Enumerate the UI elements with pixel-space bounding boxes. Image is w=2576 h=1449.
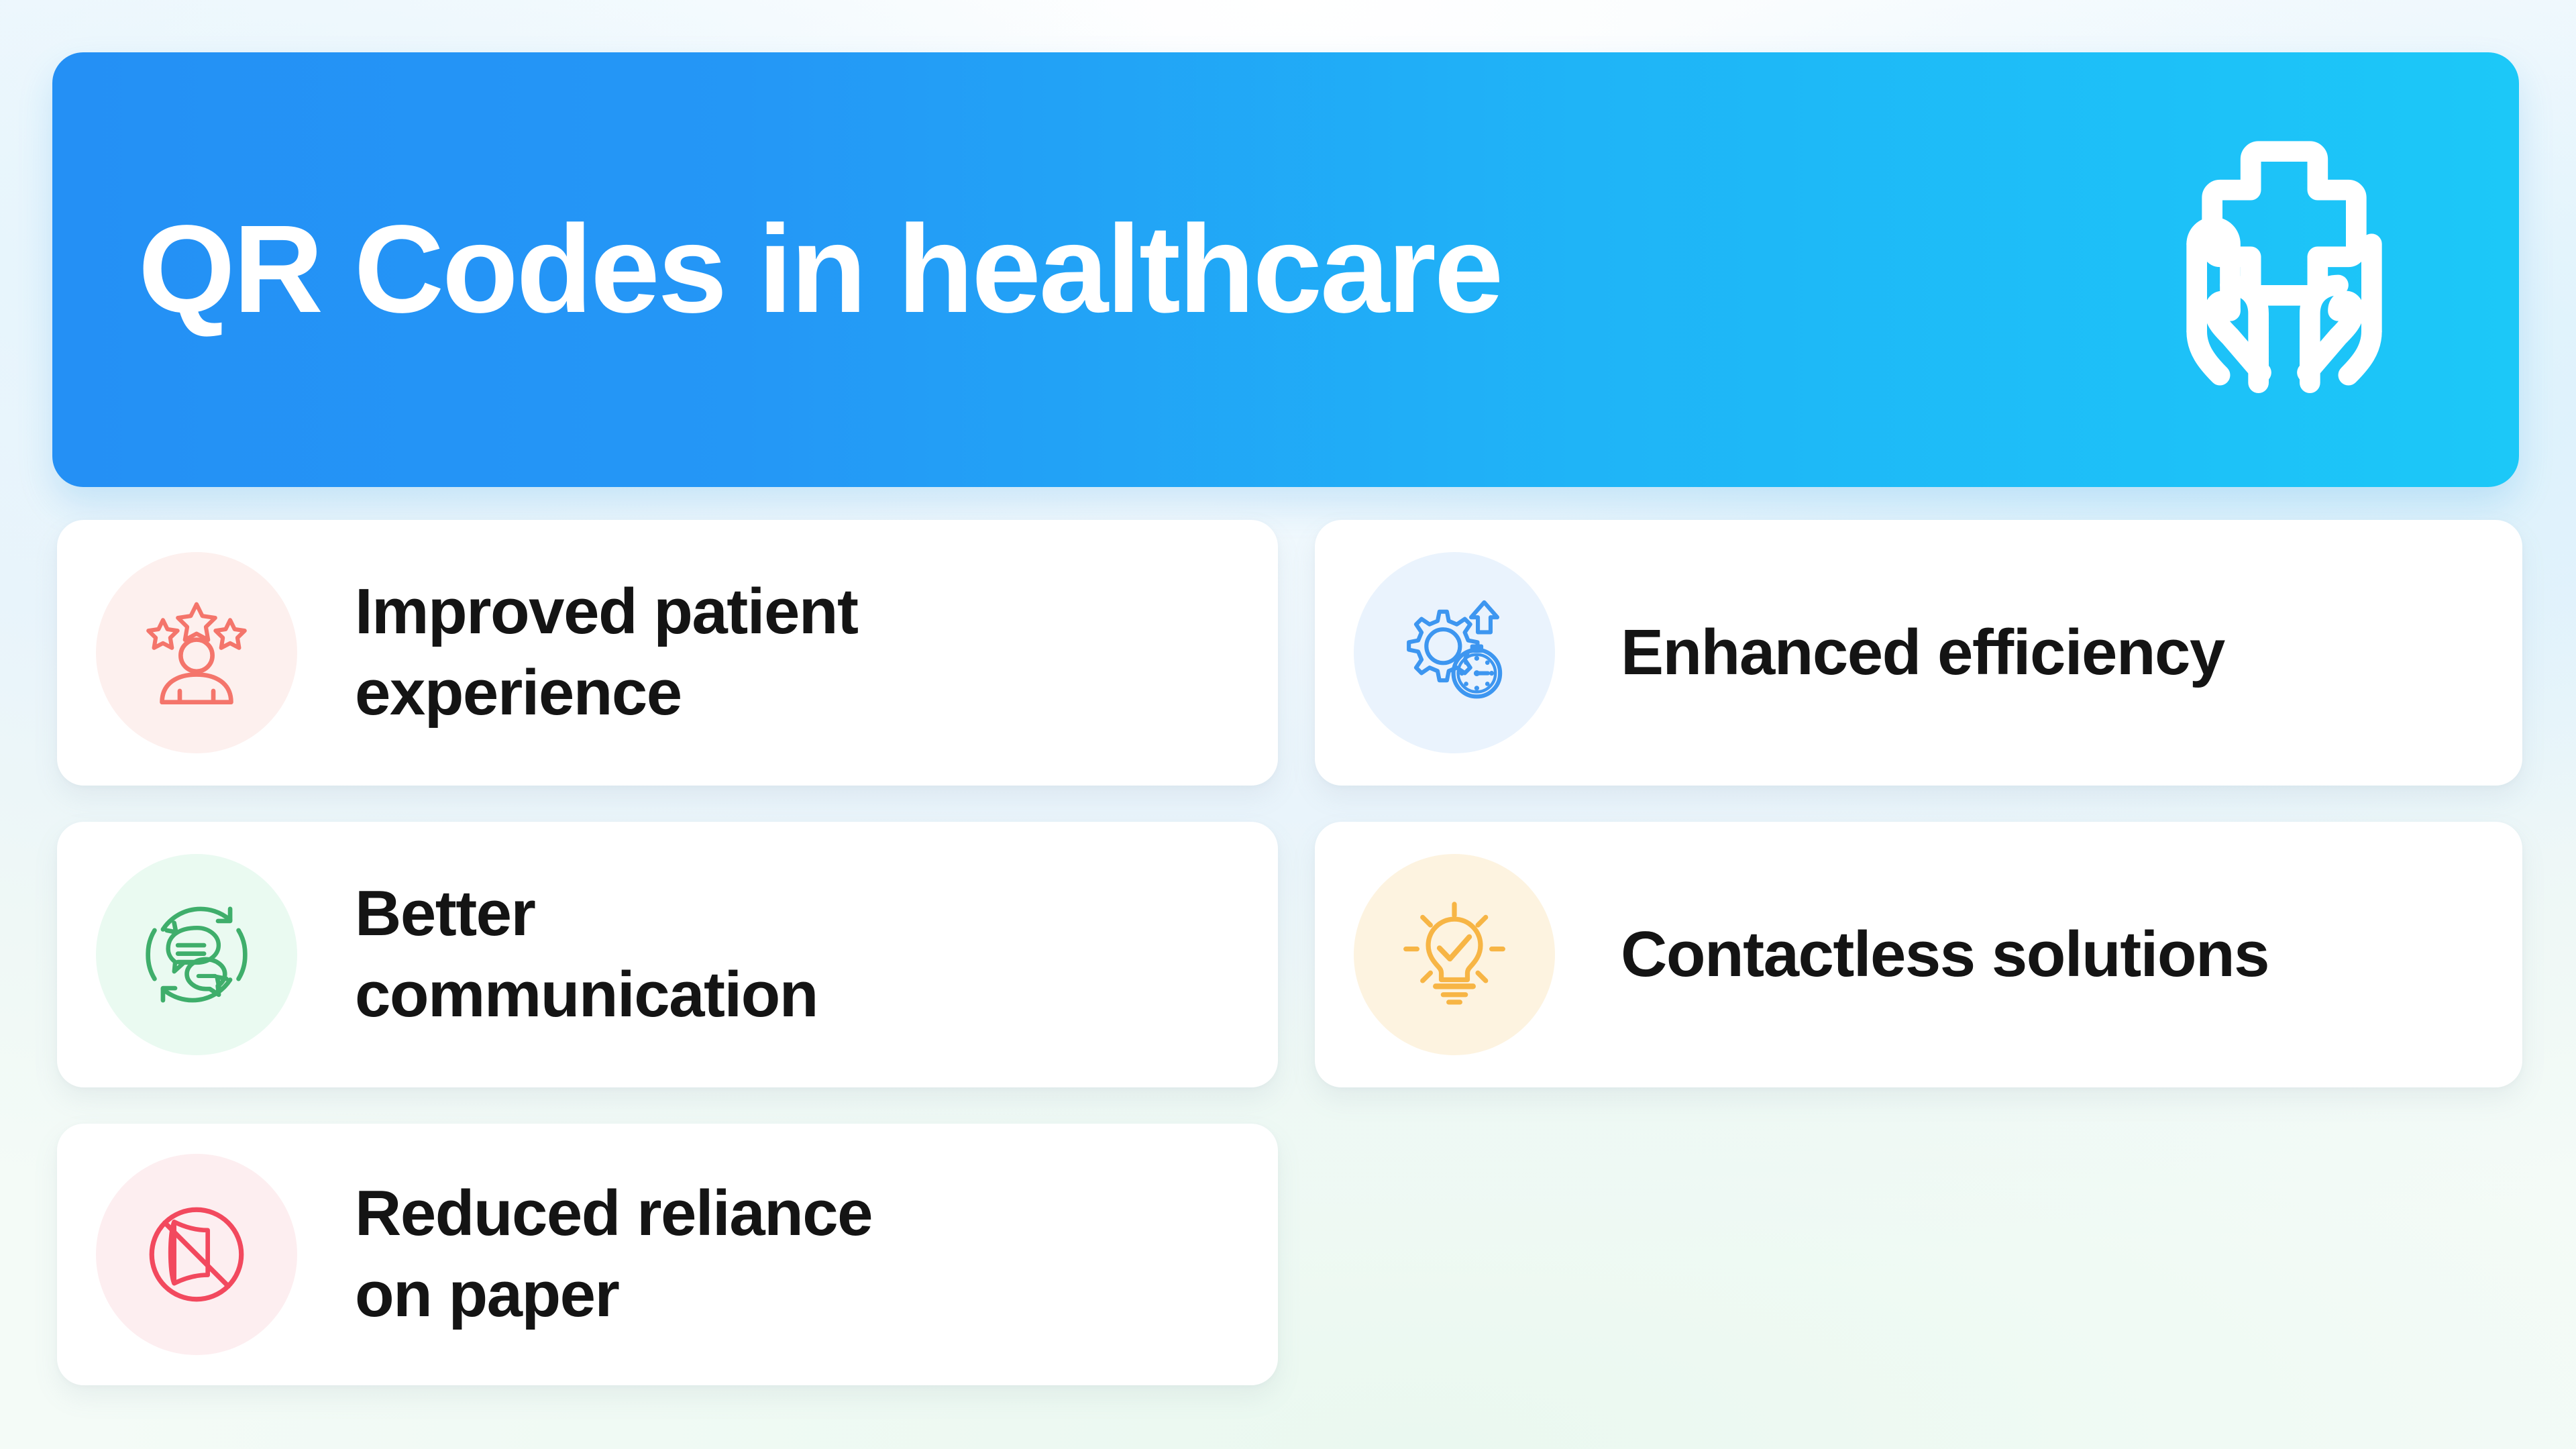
speech-bubbles-refresh-icon xyxy=(137,895,256,1014)
page-title: QR Codes in healthcare xyxy=(138,207,1501,332)
card-label: Improved patient experience xyxy=(355,572,857,734)
gear-stopwatch-arrow-up-icon xyxy=(1395,593,1514,712)
icon-badge xyxy=(96,854,297,1055)
hands-holding-medical-cross-icon xyxy=(2130,136,2438,404)
benefit-card-reduced-reliance-on-paper[interactable]: Reduced reliance on paper xyxy=(57,1124,1278,1385)
benefit-card-better-communication[interactable]: Better communication xyxy=(57,822,1278,1087)
benefit-card-contactless-solutions[interactable]: Contactless solutions xyxy=(1315,822,2522,1087)
icon-badge xyxy=(96,1154,297,1355)
icon-badge xyxy=(1354,552,1555,753)
lightbulb-check-icon xyxy=(1395,895,1514,1014)
benefit-card-enhanced-efficiency[interactable]: Enhanced efficiency xyxy=(1315,520,2522,786)
person-with-stars-icon xyxy=(137,593,256,712)
header-banner: QR Codes in healthcare xyxy=(52,52,2519,487)
card-label: Reduced reliance on paper xyxy=(355,1173,872,1336)
infographic-canvas: QR Codes in healthcare xyxy=(0,0,2576,1449)
icon-badge xyxy=(96,552,297,753)
no-paper-prohibited-icon xyxy=(137,1195,256,1314)
card-label: Contactless solutions xyxy=(1621,914,2269,996)
icon-badge xyxy=(1354,854,1555,1055)
card-label: Enhanced efficiency xyxy=(1621,612,2224,694)
card-label: Better communication xyxy=(355,873,818,1036)
benefit-card-improved-patient-experience[interactable]: Improved patient experience xyxy=(57,520,1278,786)
